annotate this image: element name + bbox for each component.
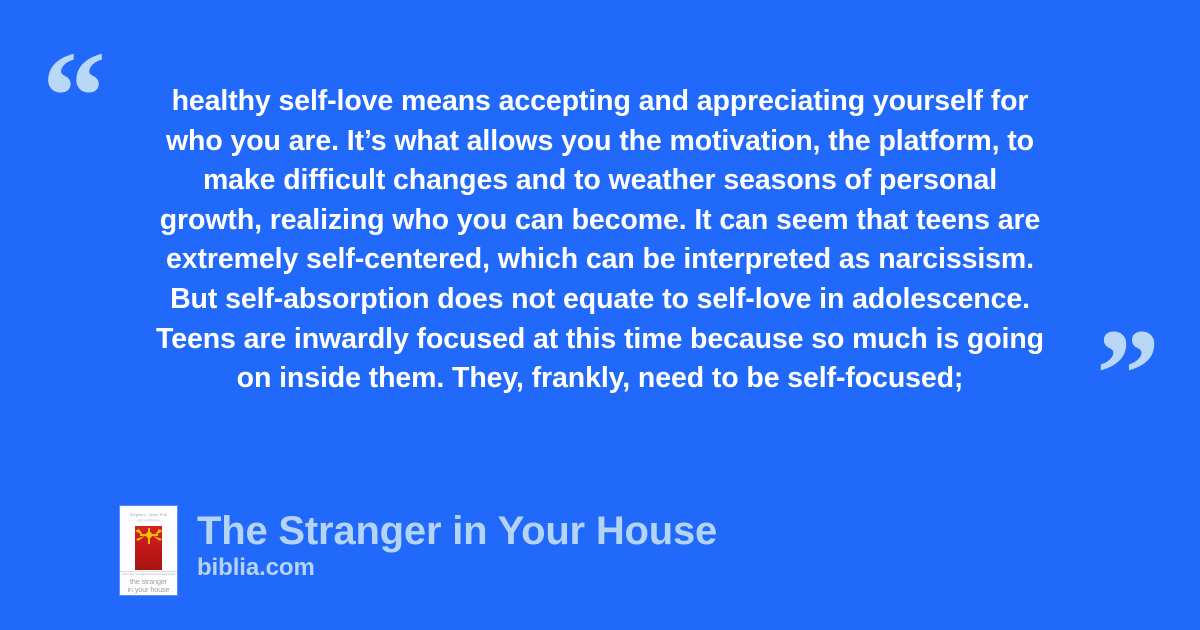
footer: Gregory L. Jantz, PhD with Ann McMurray (120, 506, 717, 595)
opening-quote-mark: “ (42, 32, 108, 160)
cover-divider (120, 571, 177, 572)
book-title[interactable]: The Stranger in Your House (197, 509, 717, 553)
quote-text: healthy self-love means accepting and ap… (104, 82, 1096, 399)
cover-author-subtext: with Ann McMurray (120, 519, 177, 522)
cover-title-text: the stranger in your house (120, 578, 177, 594)
cover-title-line-2: in your house (120, 586, 177, 594)
quote-block: healthy self-love means accepting and ap… (104, 82, 1096, 399)
closing-quote-mark: ” (1096, 310, 1162, 438)
quote-card: “ healthy self-love means accepting and … (0, 0, 1200, 630)
site-name[interactable]: biblia.com (197, 554, 717, 582)
cover-author-text: Gregory L. Jantz, PhD (120, 513, 177, 517)
cover-tagline-text: when your teenager becomes someone else (120, 573, 177, 576)
cover-splatter-graphic (134, 528, 164, 544)
book-cover-thumbnail[interactable]: Gregory L. Jantz, PhD with Ann McMurray (120, 506, 177, 595)
footer-text-group: The Stranger in Your House biblia.com (197, 506, 717, 582)
